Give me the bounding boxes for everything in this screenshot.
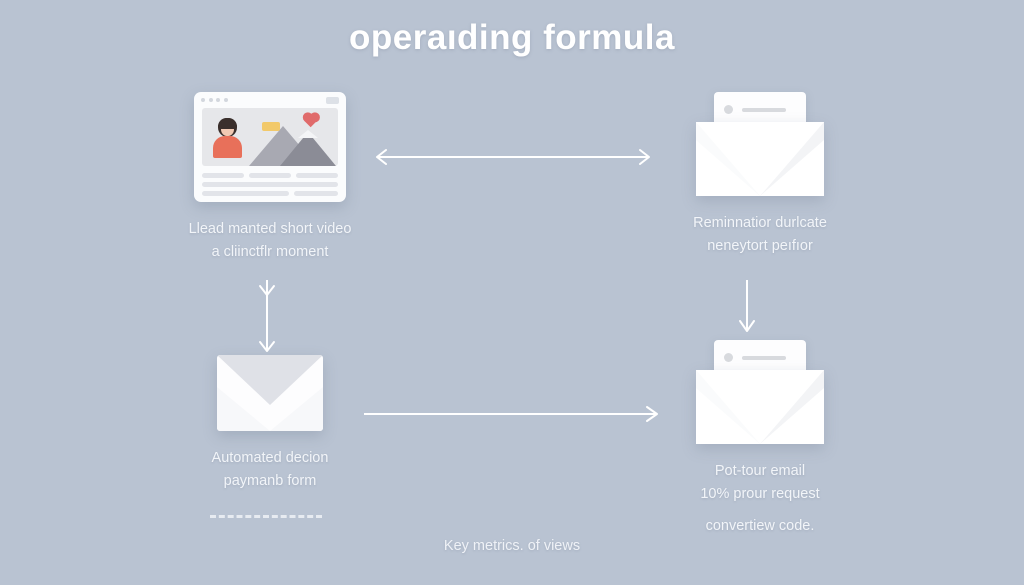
caption-line: Pot-tour email (665, 460, 855, 483)
node-video-caption: Llead manted short video a cliinctflr mo… (175, 218, 365, 265)
mountain-snow-icon (298, 130, 318, 138)
envelope-body (696, 370, 824, 444)
caption-line: 10% prour request (665, 483, 855, 506)
video-thumbnail (202, 108, 338, 166)
avatar-body (213, 136, 242, 158)
envelope-flap (217, 355, 323, 405)
arrow-right-vertical (730, 278, 764, 339)
node-followup[interactable]: Aumatlor Fidce Pot-tour email 10% prour … (665, 340, 855, 538)
closed-envelope-icon (175, 355, 365, 431)
envelope-front-right (760, 140, 824, 196)
letter-avatar-icon (724, 353, 733, 362)
browser-window-video-card-icon (175, 92, 365, 202)
letter-avatar-icon (724, 105, 733, 114)
caption-line: neneytort peıfıor (665, 235, 855, 258)
envelope-front-left (696, 388, 760, 444)
letter-heading-stub (742, 108, 786, 112)
diagram-canvas: operaıding formula (0, 0, 1024, 585)
caption-line: Reminnatior durlcate (665, 212, 855, 235)
open-envelope-letter-icon (665, 92, 855, 196)
browser-dot-icon (201, 98, 205, 102)
envelope-front-left (696, 140, 760, 196)
node-form[interactable]: Automated decion paymanb form (175, 355, 365, 494)
browser-dot-icon (224, 98, 228, 102)
browser-dot-icon (209, 98, 213, 102)
footer-note: Key metrics. of views (0, 538, 1024, 554)
arrow-bottom-horizontal (360, 402, 664, 431)
dashed-divider (210, 515, 322, 518)
envelope-front-right (760, 388, 824, 444)
browser-titlebar (194, 92, 346, 108)
browser-addressbar-stub (326, 97, 339, 104)
node-followup-caption: Pot-tour email 10% prour request convert… (665, 460, 855, 538)
caption-line: Automated decion (175, 447, 365, 470)
card-text-lines (202, 173, 338, 200)
open-envelope-letter-titled-icon: Aumatlor Fidce (665, 340, 855, 444)
node-email-top[interactable]: Reminnatior durlcate neneytort peıfıor (665, 92, 855, 259)
node-email-top-caption: Reminnatior durlcate neneytort peıfıor (665, 212, 855, 259)
arrow-left-vertical (250, 278, 284, 359)
avatar-hair (218, 118, 237, 129)
arrow-top-horizontal (368, 145, 658, 174)
letter-heading-stub (742, 356, 786, 360)
caption-line: convertiew code. (665, 515, 855, 538)
caption-line: paymanb form (175, 470, 365, 493)
page-title: operaıding formula (0, 18, 1024, 58)
caption-line: a cliinctflr moment (175, 241, 365, 264)
node-video[interactable]: Llead manted short video a cliinctflr mo… (175, 92, 365, 265)
envelope-body (696, 122, 824, 196)
caption-line: Llead manted short video (175, 218, 365, 241)
browser-dot-icon (216, 98, 220, 102)
node-form-caption: Automated decion paymanb form (175, 447, 365, 494)
badge-icon (262, 122, 280, 131)
